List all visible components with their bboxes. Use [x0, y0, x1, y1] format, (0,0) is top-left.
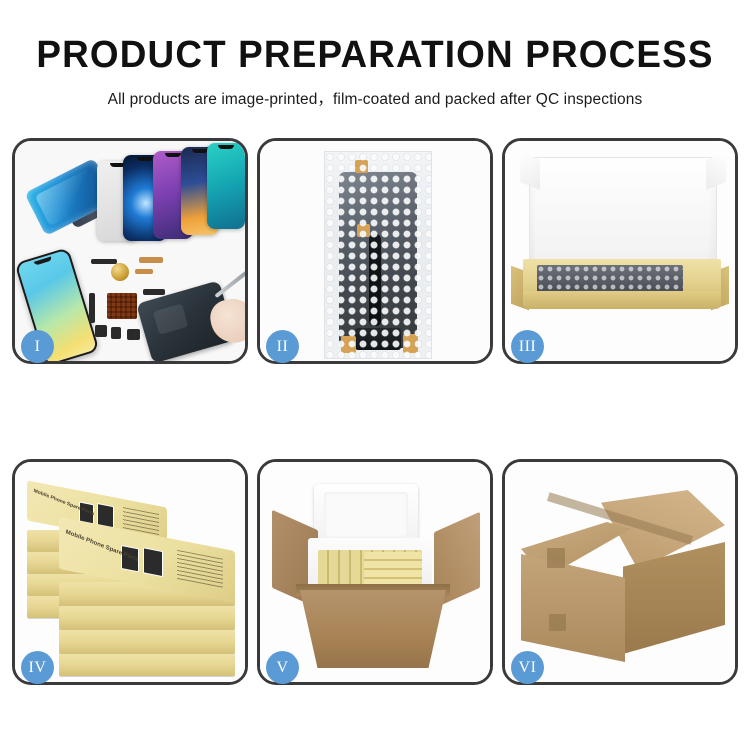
- page-header: PRODUCT PREPARATION PROCESS All products…: [0, 0, 750, 109]
- step-panel-1[interactable]: I: [12, 138, 248, 364]
- bubble-wrapped-contents: [537, 265, 683, 293]
- cardboard-carton: [300, 590, 446, 668]
- page-title: PRODUCT PREPARATION PROCESS: [11, 36, 739, 76]
- box-stack: Mobile Phone Spare Parts Mobile Phone Sp…: [23, 478, 239, 670]
- small-part-icon: [143, 289, 165, 295]
- small-part-icon: [111, 327, 121, 339]
- step-1-image: [15, 141, 245, 361]
- step-4-image: Mobile Phone Spare Parts Mobile Phone Sp…: [15, 462, 245, 682]
- flex-cable-icon: [135, 269, 153, 274]
- yellow-box-front: [523, 291, 721, 309]
- step-5-image: [260, 462, 490, 682]
- tape-tab-icon: [403, 334, 418, 353]
- small-part-icon: [91, 259, 117, 264]
- step-panel-4[interactable]: Mobile Phone Spare Parts Mobile Phone Sp…: [12, 459, 248, 685]
- step-badge-5: V: [266, 651, 299, 684]
- step-panel-5[interactable]: V: [257, 459, 493, 685]
- step-3-image: [505, 141, 735, 361]
- small-part-icon: [95, 325, 107, 337]
- step-badge-6: VI: [511, 651, 544, 684]
- flex-cable-icon: [139, 257, 163, 263]
- step-badge-3: III: [511, 330, 544, 363]
- step-panel-6[interactable]: VI: [502, 459, 738, 685]
- bubble-wrap-pouch: [324, 151, 432, 359]
- carton-tab: [549, 614, 566, 631]
- connector-grid-part-icon: [107, 293, 137, 319]
- connector-board-icon: [355, 328, 401, 350]
- step-badge-4: IV: [21, 651, 54, 684]
- step-badge-2: II: [266, 330, 299, 363]
- speaker-coil-part-icon: [111, 263, 129, 281]
- process-steps-grid: I II: [12, 138, 738, 685]
- flex-cable-icon: [369, 234, 381, 326]
- foam-box-lid: [314, 484, 418, 546]
- small-part-icon: [127, 329, 140, 340]
- page-subtitle: All products are image-printed，film-coat…: [0, 87, 750, 109]
- tape-tab-icon: [341, 336, 356, 353]
- carton-tab: [547, 548, 565, 568]
- tape-tab-icon: [357, 224, 370, 237]
- small-part-icon: [89, 293, 95, 323]
- step-6-image: [505, 462, 735, 682]
- step-panel-2[interactable]: II: [257, 138, 493, 364]
- step-panel-3[interactable]: III: [502, 138, 738, 364]
- phone-display-teal-icon: [207, 143, 245, 229]
- step-2-image: [260, 141, 490, 361]
- step-badge-1: I: [21, 330, 54, 363]
- tape-tab-icon: [355, 160, 368, 173]
